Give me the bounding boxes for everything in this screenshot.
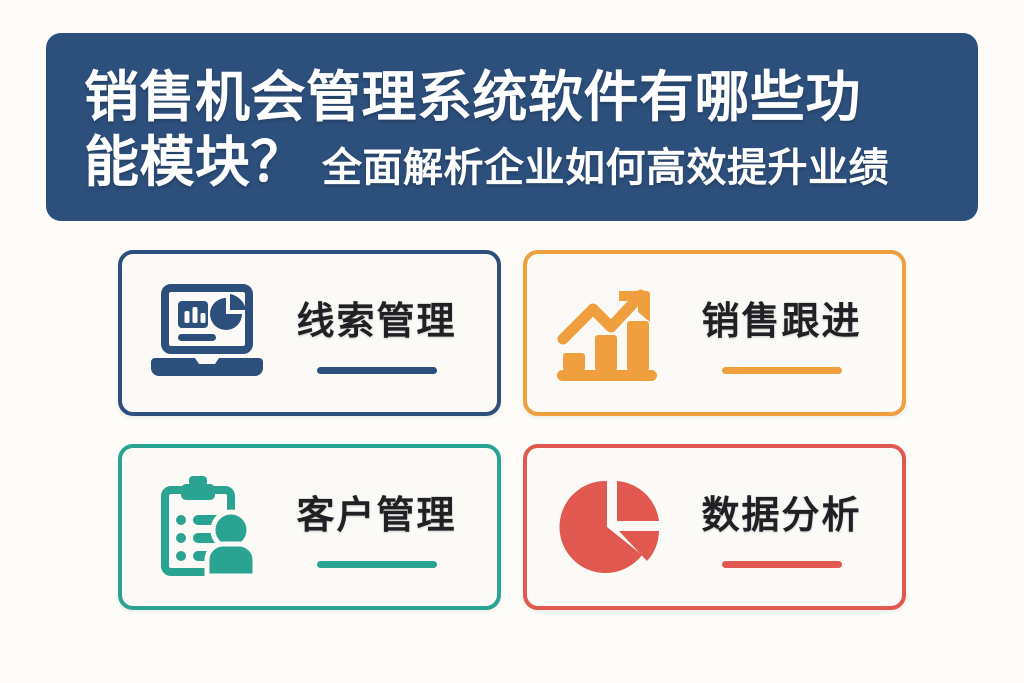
feature-card-label: 线索管理 xyxy=(296,290,456,345)
accent-underline xyxy=(317,367,437,374)
feature-card-lead-management[interactable]: 线索管理 xyxy=(118,250,501,416)
feature-card-label: 销售跟进 xyxy=(701,290,861,345)
accent-underline xyxy=(722,561,842,568)
laptop-analytics-icon xyxy=(148,277,266,389)
pie-chart-icon xyxy=(553,471,671,583)
card-body: 数据分析 xyxy=(671,484,892,570)
accent-underline xyxy=(722,367,842,374)
feature-card-grid: 线索管理 销售跟进 xyxy=(118,250,906,610)
page-title-line-2-main: 能模块？ xyxy=(84,131,306,193)
feature-card-sales-followup[interactable]: 销售跟进 xyxy=(523,250,906,416)
clipboard-person-icon xyxy=(148,471,266,583)
card-body: 销售跟进 xyxy=(671,290,892,376)
header-banner: 销售机会管理系统软件有哪些功 能模块？全面解析企业如何高效提升业绩 xyxy=(46,33,978,221)
feature-card-label: 数据分析 xyxy=(701,484,861,539)
page-title-line-1: 销售机会管理系统软件有哪些功 xyxy=(84,65,944,130)
feature-card-label: 客户管理 xyxy=(296,484,456,539)
card-body: 线索管理 xyxy=(266,290,487,376)
feature-card-data-analysis[interactable]: 数据分析 xyxy=(523,444,906,610)
feature-card-customer-management[interactable]: 客户管理 xyxy=(118,444,501,610)
card-body: 客户管理 xyxy=(266,484,487,570)
growth-chart-arrow-icon xyxy=(553,277,671,389)
page-subtitle: 全面解析企业如何高效提升业绩 xyxy=(306,146,889,190)
page-title-line-2: 能模块？全面解析企业如何高效提升业绩 xyxy=(84,130,944,195)
accent-underline xyxy=(317,561,437,568)
